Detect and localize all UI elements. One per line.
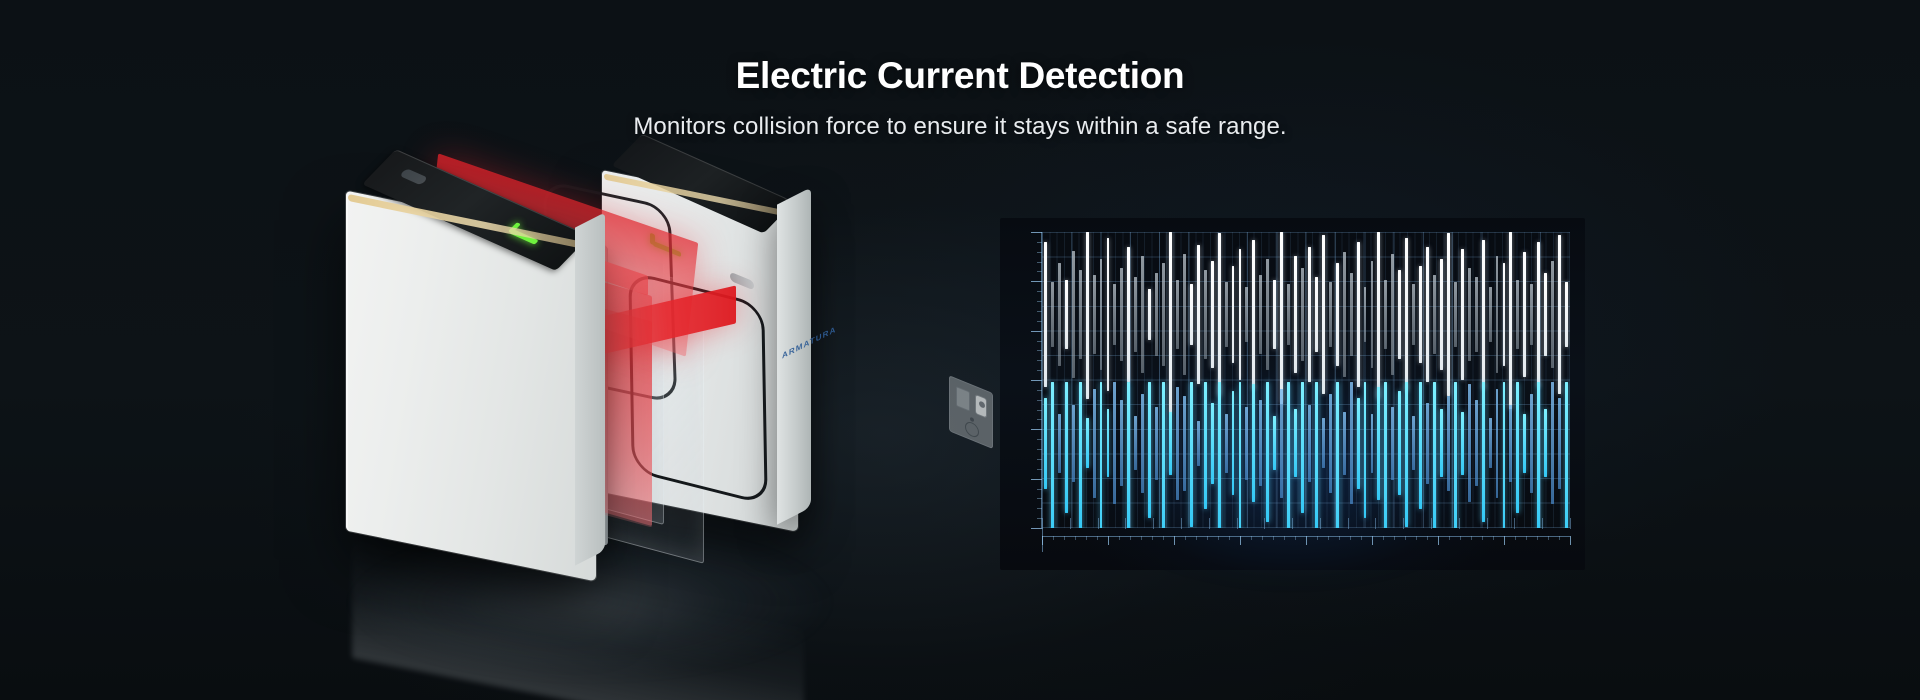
waveform-bar: [1100, 382, 1103, 528]
waveform-bar: [1377, 387, 1380, 500]
waveform-panel: [1000, 218, 1585, 570]
x-axis-tick-minor: [1229, 536, 1230, 540]
waveform-bar: [1544, 409, 1547, 477]
waveform-bar: [1433, 275, 1436, 354]
waveform-bar: [1113, 382, 1116, 504]
waveform-bar: [1461, 412, 1464, 475]
x-axis-tick-minor: [1339, 536, 1340, 540]
x-axis-tick-minor: [1548, 536, 1549, 540]
waveform-bar: [1496, 256, 1499, 372]
x-axis-tick-minor: [1218, 536, 1219, 540]
x-axis-tick-minor: [1053, 536, 1054, 540]
waveform-bar: [1239, 249, 1242, 379]
waveform-bar: [1391, 254, 1394, 375]
card-reader-icon: [956, 386, 970, 412]
waveform-bar: [1537, 382, 1540, 528]
waveform-bar: [1211, 261, 1214, 368]
waveform-bar: [1523, 252, 1526, 378]
waveform-bar: [1482, 240, 1485, 389]
left-green-arrow-led-icon: [508, 221, 547, 245]
waveform-bar: [1482, 382, 1485, 522]
waveform-bar: [1218, 382, 1221, 528]
x-axis-inner-tick: [1264, 518, 1265, 529]
waveform-bar: [1551, 261, 1554, 368]
x-axis-tick-minor: [1064, 536, 1065, 540]
waveform-bar: [1336, 263, 1339, 365]
waveform-bar: [1357, 242, 1360, 386]
waveform-bar: [1148, 382, 1151, 518]
left-sensor-strip-icon: [399, 168, 428, 185]
y-axis-tick-minor: [1037, 341, 1042, 342]
waveform-bar: [1190, 382, 1193, 527]
waveform-bar: [1252, 384, 1255, 502]
y-axis-tick-minor: [1037, 321, 1042, 322]
waveform-bar: [1565, 382, 1568, 528]
waveform-bar: [1426, 247, 1429, 382]
x-axis-inner-tick: [1070, 518, 1071, 529]
waveform-bar: [1350, 382, 1353, 504]
y-axis-tick-minor: [1037, 390, 1042, 391]
waveform-bar: [1127, 247, 1130, 382]
x-axis-tick-minor: [1130, 536, 1131, 540]
waveform-bar: [1371, 414, 1374, 473]
waveform-bar: [1329, 282, 1332, 347]
x-axis-tick-minor: [1262, 536, 1263, 540]
x-axis-tick-minor: [1152, 536, 1153, 540]
waveform-bar: [1044, 242, 1047, 386]
x-axis-inner-tick: [1098, 518, 1099, 529]
waveform-bar: [1245, 407, 1248, 479]
waveform-bar: [1301, 382, 1304, 513]
waveform-bar: [1058, 263, 1061, 365]
waveform-bar: [1204, 382, 1207, 509]
waveform-bar: [1454, 382, 1457, 528]
y-axis-tick-minor: [1037, 360, 1042, 361]
waveform-bar: [1350, 273, 1353, 357]
y-axis-tick-major: [1031, 528, 1042, 529]
x-axis-tick-minor: [1207, 536, 1208, 540]
waveform-bar: [1405, 238, 1408, 391]
waveform-bar: [1475, 277, 1478, 351]
waveform-bar: [1273, 416, 1276, 470]
y-axis-tick-minor: [1037, 311, 1042, 312]
x-axis-inner-tick: [1403, 518, 1404, 529]
x-axis-tick-minor: [1427, 536, 1428, 540]
waveform-bar: [1044, 398, 1047, 489]
waveform-bar: [1141, 256, 1144, 372]
waveform-bar: [1301, 268, 1304, 361]
waveform-bar: [1072, 405, 1075, 482]
waveform-bar: [1558, 235, 1561, 393]
waveform-bar: [1489, 418, 1492, 468]
waveform-bar: [1440, 409, 1443, 477]
x-axis-tick-minor: [1196, 536, 1197, 540]
badge-icon: [975, 394, 987, 419]
y-axis-tick-major: [1031, 380, 1042, 381]
waveform-bar: [1322, 418, 1325, 468]
y-axis-tick-minor: [1037, 400, 1042, 401]
x-axis-tick-minor: [1251, 536, 1252, 540]
waveform-bar: [1523, 414, 1526, 473]
waveform-bar: [1141, 394, 1144, 494]
waveform-bar: [1225, 414, 1228, 473]
waveform-bar: [1357, 398, 1360, 489]
x-axis-inner-tick: [1320, 518, 1321, 529]
waveform-bar: [1468, 268, 1471, 361]
x-axis-tick-minor: [1482, 536, 1483, 540]
y-axis-tick-minor: [1037, 242, 1042, 243]
x-axis-tick-major: [1570, 536, 1571, 545]
x-axis-tick-minor: [1163, 536, 1164, 540]
waveform-bar: [1565, 282, 1568, 347]
waveform-bar: [1259, 275, 1262, 354]
waveform-bar: [1405, 382, 1408, 527]
y-axis-tick-major: [1031, 479, 1042, 480]
x-axis-tick-minor: [1361, 536, 1362, 540]
waveform-bar: [1093, 275, 1096, 354]
waveform-bar: [1225, 282, 1228, 347]
waveform-bar: [1211, 403, 1214, 484]
x-axis-tick-minor: [1317, 536, 1318, 540]
y-axis-tick-minor: [1037, 262, 1042, 263]
waveform-bar: [1287, 284, 1290, 344]
waveform-bar: [1329, 394, 1332, 494]
waveform-bar: [1239, 382, 1242, 528]
x-axis-tick-minor: [1350, 536, 1351, 540]
y-axis-tick-minor: [1037, 508, 1042, 509]
x-axis-inner-tick: [1487, 518, 1488, 529]
waveform-bar: [1120, 400, 1123, 486]
waveform-bar: [1537, 242, 1540, 386]
waveform-bar: [1107, 238, 1110, 391]
waveform-bar: [1447, 233, 1450, 396]
waveform-bar: [1127, 382, 1130, 528]
icon-plate: [949, 375, 993, 449]
waveform-bar: [1148, 289, 1151, 340]
waveform-bar: [1516, 382, 1519, 513]
waveform-bar: [1440, 259, 1443, 371]
x-axis-tick-minor: [1449, 536, 1450, 540]
waveform-bar: [1065, 280, 1068, 350]
y-axis-tick-minor: [1037, 410, 1042, 411]
x-axis-tick-minor: [1141, 536, 1142, 540]
x-axis-inner-tick: [1542, 518, 1543, 529]
x-axis-inner-tick: [1292, 518, 1293, 529]
waveform-bar: [1343, 412, 1346, 475]
waveform-bar: [1419, 266, 1422, 364]
y-axis-tick-major: [1031, 429, 1042, 430]
x-axis-tick-minor: [1493, 536, 1494, 540]
waveform-bar: [1398, 391, 1401, 495]
y-axis-tick-minor: [1037, 301, 1042, 302]
x-axis-tick-minor: [1405, 536, 1406, 540]
waveform-bar: [1468, 384, 1471, 502]
waveform-bar: [1516, 280, 1519, 350]
x-axis-tick-major: [1174, 536, 1175, 545]
waveform-bar: [1308, 405, 1311, 482]
page-subtitle: Monitors collision force to ensure it st…: [0, 111, 1920, 142]
waveform-bar: [1454, 282, 1457, 347]
x-axis-inner-tick: [1570, 518, 1571, 529]
waveform-bar: [1322, 235, 1325, 393]
waveform-bar: [1398, 270, 1401, 358]
waveform-bar: [1086, 232, 1089, 399]
waveform-bar: [1245, 287, 1248, 343]
x-axis-tick-minor: [1526, 536, 1527, 540]
x-axis-tick-major: [1108, 536, 1109, 545]
waveform-bar: [1447, 396, 1450, 491]
waveform-bar: [1259, 400, 1262, 486]
waveform-bar: [1558, 398, 1561, 489]
waveform-bar: [1134, 277, 1137, 351]
waveform-bar: [1287, 382, 1290, 528]
x-axis-tick-minor: [1559, 536, 1560, 540]
waveform-bar: [1176, 387, 1179, 500]
waveform-bar: [1065, 382, 1068, 513]
y-axis-tick-major: [1031, 232, 1042, 233]
y-axis-tick-minor: [1037, 252, 1042, 253]
y-axis-tick-minor: [1037, 271, 1042, 272]
waveform-bar: [1058, 414, 1061, 473]
waveform-bar: [1496, 389, 1499, 498]
waveform-bar: [1273, 280, 1276, 350]
waveform-bar: [1426, 403, 1429, 484]
x-axis-tick-minor: [1119, 536, 1120, 540]
waveform-bar: [1134, 416, 1137, 470]
x-axis-tick-major: [1240, 536, 1241, 545]
x-axis-tick-minor: [1328, 536, 1329, 540]
waveform-bar: [1433, 382, 1436, 528]
waveform-x-axis: [1042, 536, 1570, 562]
turnstile-product-render: ARMATURA: [330, 160, 850, 620]
waveform-bar: [1503, 382, 1506, 528]
waveform-bar: [1308, 247, 1311, 382]
waveform-bar: [1155, 407, 1158, 479]
y-axis-tick-minor: [1037, 419, 1042, 420]
x-axis-tick-major: [1372, 536, 1373, 545]
waveform-bar: [1266, 259, 1269, 371]
x-axis-tick-major: [1438, 536, 1439, 545]
waveform-bar: [1343, 252, 1346, 378]
x-axis-tick-minor: [1086, 536, 1087, 540]
x-axis-inner-tick: [1459, 518, 1460, 529]
x-axis-tick-minor: [1284, 536, 1285, 540]
x-axis-tick-major: [1042, 536, 1043, 545]
y-axis-tick-minor: [1037, 498, 1042, 499]
waveform-bar: [1364, 287, 1367, 343]
waveform-bar: [1384, 382, 1387, 528]
waveform-bar: [1107, 409, 1110, 477]
waveform-bar: [1391, 407, 1394, 479]
waveform-bar: [1419, 382, 1422, 509]
x-axis-tick-minor: [1383, 536, 1384, 540]
x-axis-inner-tick: [1514, 518, 1515, 529]
waveform-bar: [1252, 240, 1255, 389]
y-axis-tick-minor: [1037, 370, 1042, 371]
y-axis-tick-minor: [1037, 439, 1042, 440]
waveform-bar: [1315, 382, 1318, 528]
x-axis-tick-minor: [1295, 536, 1296, 540]
waveform-bar: [1294, 409, 1297, 477]
wheelchair-accessibility-icon: [963, 414, 980, 439]
x-axis-tick-minor: [1460, 536, 1461, 540]
waveform-bar: [1509, 405, 1512, 482]
waveform-bar: [1377, 232, 1380, 399]
waveform-bar: [1461, 249, 1464, 379]
waveform-x-axis-inner-ticks: [1042, 518, 1570, 532]
y-axis-tick-major: [1031, 331, 1042, 332]
x-axis-tick-minor: [1471, 536, 1472, 540]
waveform-bar: [1086, 418, 1089, 468]
waveform-bar: [1232, 391, 1235, 495]
x-axis-inner-tick: [1181, 518, 1182, 529]
x-axis-inner-tick: [1375, 518, 1376, 529]
waveform-series-reference-current: [1042, 232, 1570, 382]
x-axis-tick-major: [1306, 536, 1307, 545]
waveform-bar: [1530, 394, 1533, 494]
x-axis-tick-minor: [1515, 536, 1516, 540]
waveform-bar: [1113, 284, 1116, 344]
waveform-bar: [1169, 412, 1172, 475]
waveform-bar: [1544, 273, 1547, 357]
waveform-plot-area: [1042, 232, 1570, 528]
x-axis-tick-minor: [1537, 536, 1538, 540]
y-axis-tick-major: [1031, 281, 1042, 282]
x-axis-inner-tick: [1125, 518, 1126, 529]
waveform-bar: [1197, 245, 1200, 385]
x-axis-inner-tick: [1431, 518, 1432, 529]
waveform-bar: [1162, 382, 1165, 528]
waveform-bar: [1155, 273, 1158, 357]
waveform-bar: [1551, 382, 1554, 504]
waveform-bar: [1176, 280, 1179, 350]
waveform-y-axis: [1018, 232, 1042, 528]
waveform-bar: [1232, 266, 1235, 364]
waveform-bar: [1162, 263, 1165, 365]
x-axis-inner-tick: [1348, 518, 1349, 529]
waveform-bar: [1336, 382, 1339, 528]
waveform-bar: [1364, 382, 1367, 518]
waveform-bar: [1079, 382, 1082, 528]
waveform-bar: [1315, 277, 1318, 351]
waveform-bar: [1190, 284, 1193, 344]
waveform-bar: [1197, 421, 1200, 466]
header: Electric Current Detection Monitors coll…: [0, 0, 1920, 142]
x-axis-inner-tick: [1153, 518, 1154, 529]
waveform-bar: [1503, 263, 1506, 365]
left-pedestal-side-panel: [575, 212, 605, 565]
waveform-bar: [1120, 268, 1123, 361]
waveform-bar: [1280, 389, 1283, 498]
waveform-bar: [1530, 284, 1533, 344]
waveform-bar: [1051, 282, 1054, 347]
waveform-bar: [1384, 280, 1387, 350]
left-pedestal-body: [346, 191, 596, 582]
y-axis-tick-minor: [1037, 469, 1042, 470]
x-axis-tick-minor: [1075, 536, 1076, 540]
y-axis-tick-minor: [1037, 459, 1042, 460]
x-axis-tick-minor: [1097, 536, 1098, 540]
y-axis-tick-minor: [1037, 291, 1042, 292]
waveform-bar: [1093, 389, 1096, 498]
x-axis-tick-minor: [1185, 536, 1186, 540]
x-axis-inner-tick: [1209, 518, 1210, 529]
x-axis-tick-minor: [1394, 536, 1395, 540]
waveform-bar: [1412, 416, 1415, 470]
y-axis-tick-minor: [1037, 350, 1042, 351]
waveform-bar: [1183, 396, 1186, 491]
waveform-bar: [1412, 284, 1415, 344]
waveform-bar: [1100, 259, 1103, 371]
waveform-series-measured-collision-force: [1042, 382, 1570, 528]
waveform-bar: [1280, 232, 1283, 404]
waveform-bar: [1183, 254, 1186, 375]
waveform-bar: [1079, 270, 1082, 358]
waveform-bar: [1051, 382, 1054, 528]
waveform-bar: [1371, 261, 1374, 368]
x-axis-tick-minor: [1416, 536, 1417, 540]
waveform-bar: [1072, 251, 1075, 379]
waveform-bar: [1266, 382, 1269, 522]
page-title: Electric Current Detection: [0, 55, 1920, 98]
x-axis-tick-minor: [1273, 536, 1274, 540]
waveform-bar: [1204, 270, 1207, 358]
y-axis-tick-minor: [1037, 489, 1042, 490]
y-axis-tick-minor: [1037, 449, 1042, 450]
x-axis-inner-tick: [1237, 518, 1238, 529]
x-axis-tick-major: [1504, 536, 1505, 545]
waveform-bar: [1294, 256, 1297, 372]
waveform-bar: [1489, 287, 1492, 343]
waveform-bar: [1475, 400, 1478, 486]
waveform-bar: [1218, 233, 1221, 396]
